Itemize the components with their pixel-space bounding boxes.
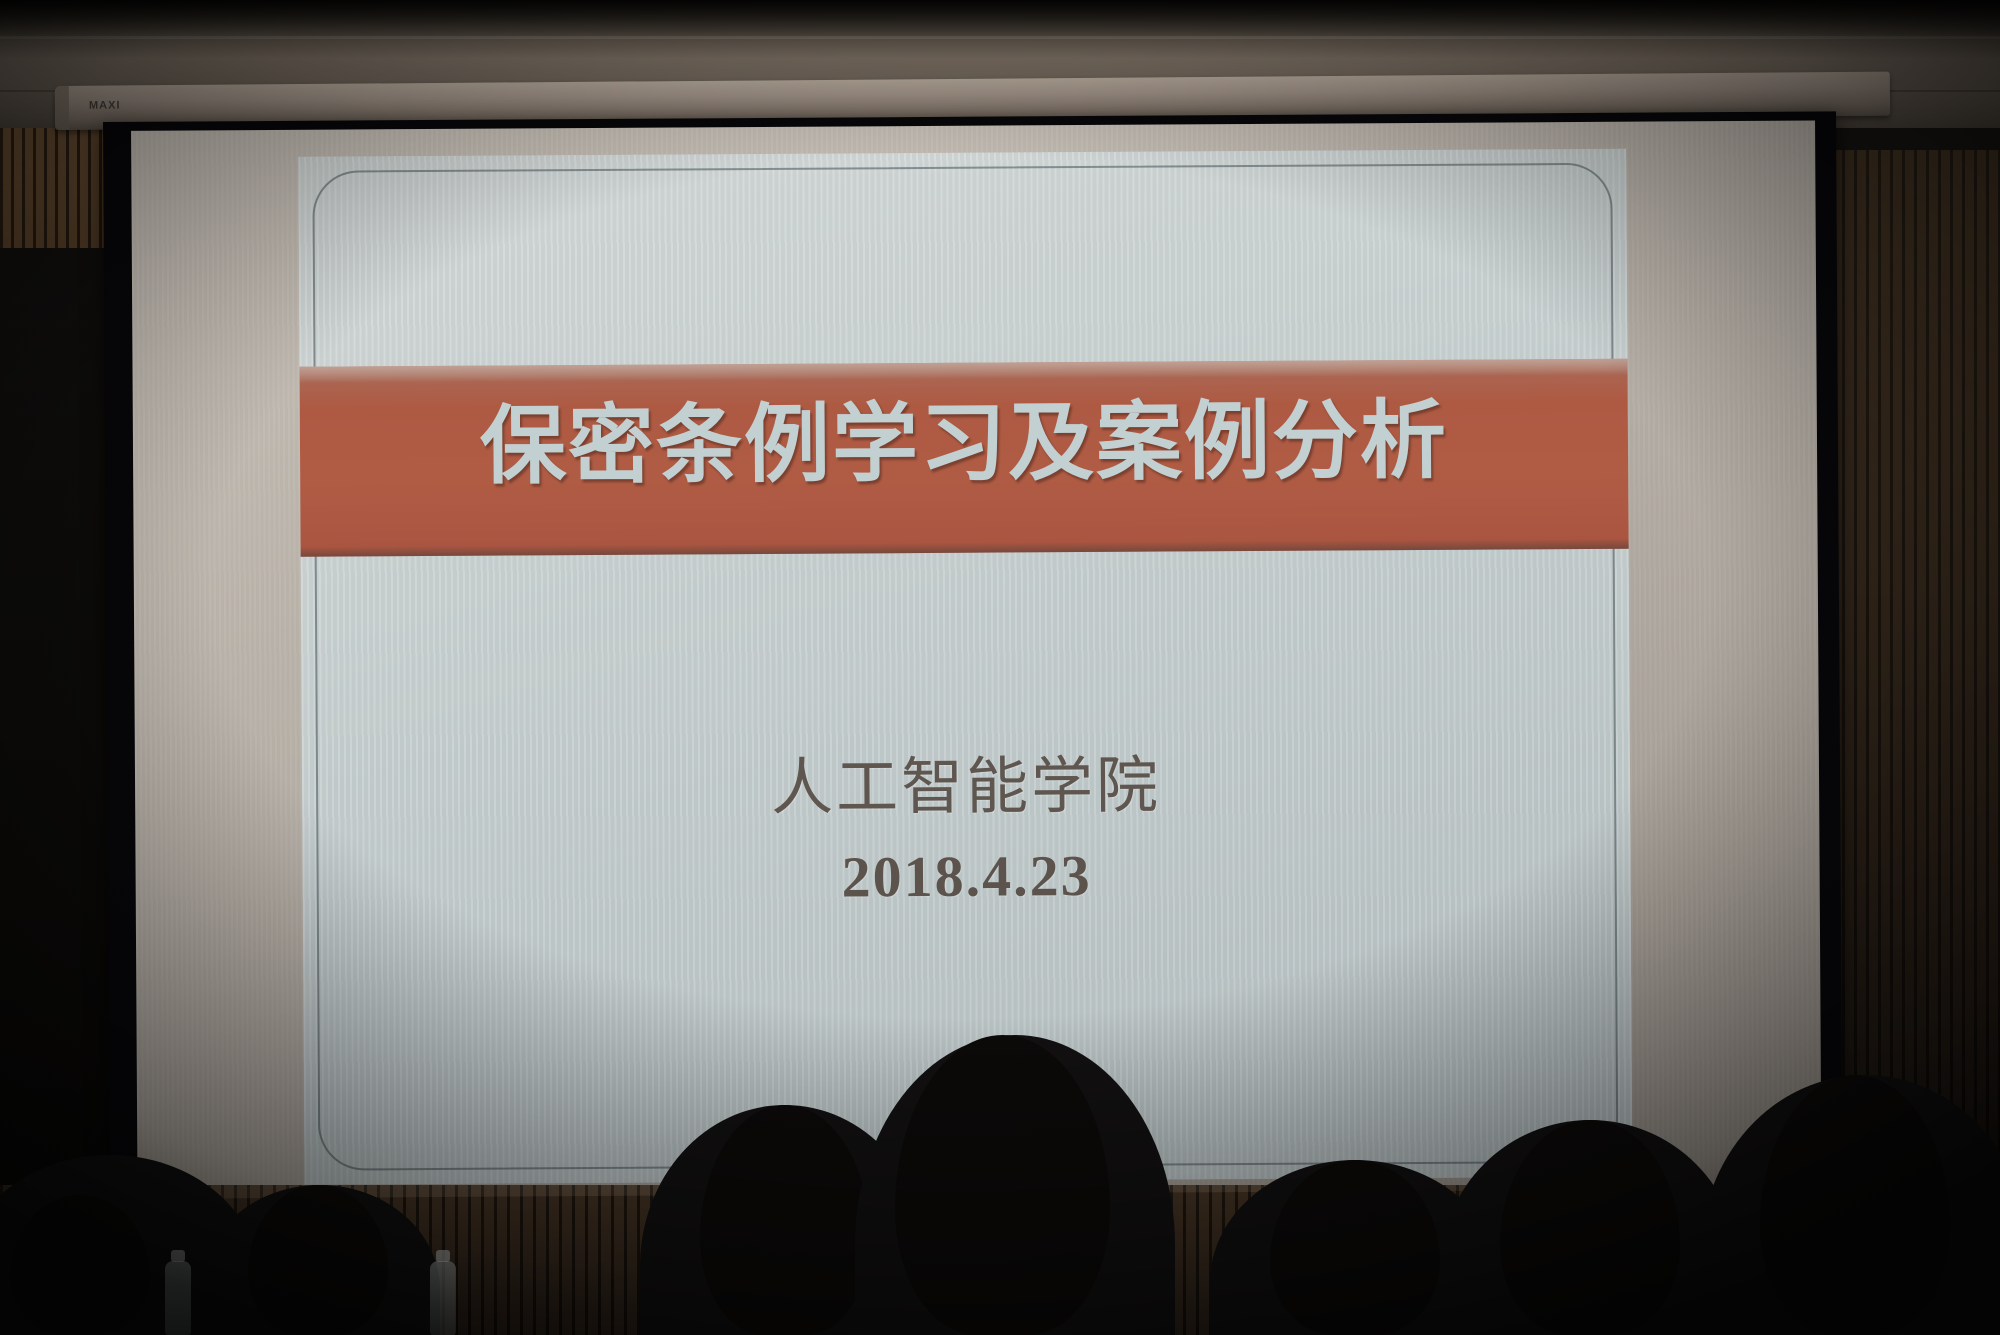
slide-rounded-border — [312, 163, 1618, 1171]
roller-end-cap — [55, 86, 69, 130]
slide-organization: 人工智能学院 — [302, 749, 1630, 825]
slide-date: 2018.4.23 — [302, 839, 1630, 914]
projector-scanline-overlay — [298, 149, 1632, 1185]
presentation-slide: 保密条例学习及案例分析 人工智能学院 2018.4.23 — [298, 149, 1632, 1185]
slide-subtitle-block: 人工智能学院 2018.4.23 — [302, 749, 1631, 914]
roller-brand-logo: MAXI — [89, 99, 121, 111]
title-band-highlight — [299, 359, 1627, 383]
title-band-shadow — [301, 539, 1629, 557]
screenshot-scene: MAXI 保密条例学习及案例分析 人工智能学院 2018.4.23 — [0, 0, 2000, 1335]
stage-front-wood-panel — [0, 1185, 2000, 1335]
slide-title-band: 保密条例学习及案例分析 — [299, 359, 1628, 557]
projection-screen-surface: 保密条例学习及案例分析 人工智能学院 2018.4.23 — [131, 121, 1821, 1199]
ceiling-trim-line-upper — [0, 36, 2000, 39]
projection-screen-frame: 保密条例学习及案例分析 人工智能学院 2018.4.23 — [103, 111, 1843, 1212]
slide-title: 保密条例学习及案例分析 — [300, 397, 1629, 491]
